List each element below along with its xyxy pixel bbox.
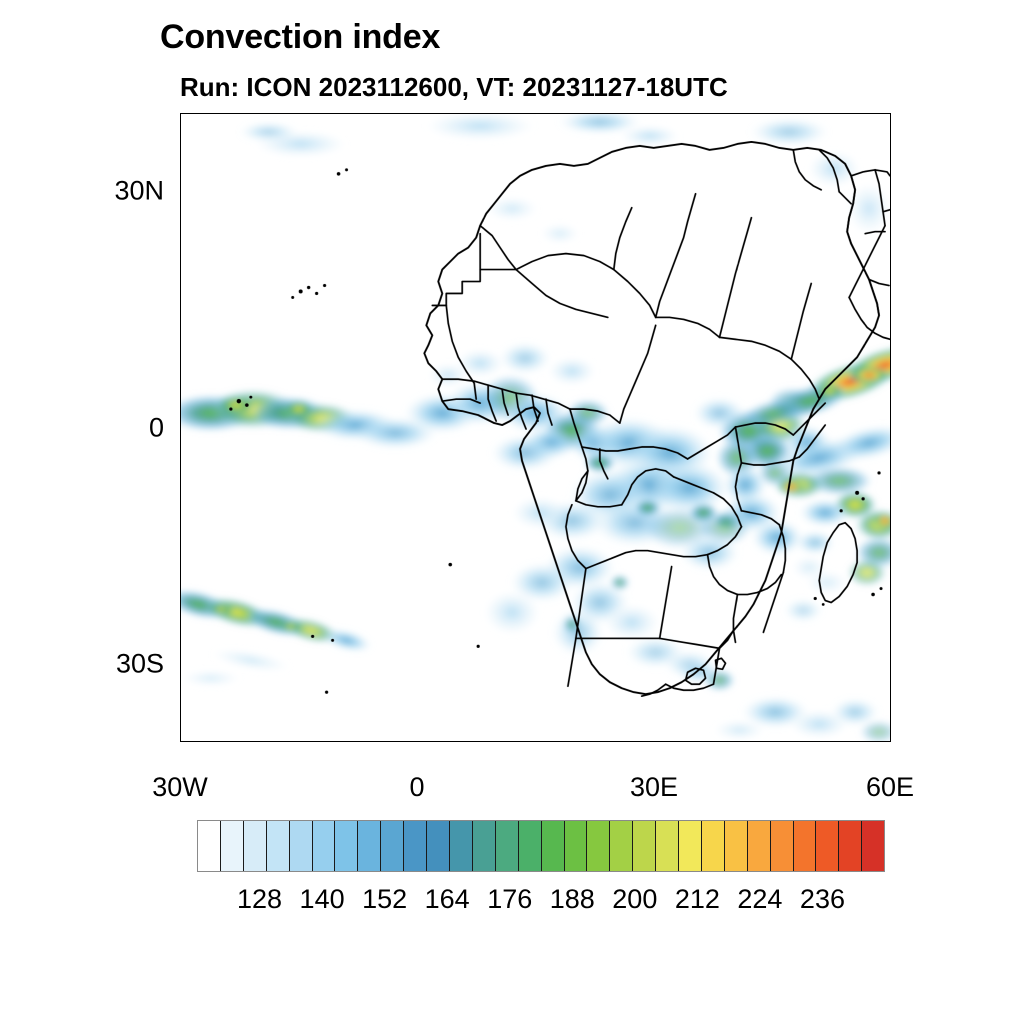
run-valid-time-subtitle: Run: ICON 2023112600, VT: 20231127-18UTC [180,72,728,103]
colorbar-tick-label: 140 [300,884,345,915]
colorbar-tick-label: 188 [550,884,595,915]
colorbar-cell [381,821,404,871]
ytick-15n [180,271,181,272]
colorbar-cell [816,821,839,871]
map-plot-area[interactable] [180,113,891,742]
colorbar-cell [290,821,313,871]
colorbar-cell [519,821,542,871]
colorbar-cell [702,821,725,871]
colorbar-cell [610,821,633,871]
africa-convection-map [181,114,890,741]
xtick-label-0: 0 [409,772,424,803]
colorbar-cell [542,821,565,871]
colorbar-cell [221,821,244,871]
colorbar-tick-label: 236 [800,884,845,915]
colorbar-cell [473,821,496,871]
colorbar-tick-label: 128 [237,884,282,915]
colorbar-cell [725,821,748,871]
colorbar-cell [198,821,221,871]
ytick-label-0: 0 [104,413,164,444]
colorbar-tick-label: 212 [675,884,720,915]
colorbar-cell [267,821,290,871]
colorbar-cell [358,821,381,871]
ytick-15n-b [180,350,181,351]
colorbar-cell [679,821,702,871]
ytick-15s [180,508,181,509]
ytick-0 [180,429,181,430]
colorbar-tick-label: 176 [487,884,532,915]
colorbar-tick-label: 152 [362,884,407,915]
ytick-label-30n: 30N [104,176,164,207]
ytick-30s [180,665,181,666]
colorbar-cell [450,821,473,871]
colorbar-cell [496,821,519,871]
colorbar-cell [633,821,656,871]
page-title: Convection index [160,18,440,57]
colorbar-cell [748,821,771,871]
ytick-label-30s: 30S [104,649,164,680]
colorbar-cell [656,821,679,871]
colorbar-cell [862,821,884,871]
colorbar[interactable] [197,820,885,872]
colorbar-cell [427,821,450,871]
colorbar-cell [771,821,794,871]
colorbar-cell [794,821,817,871]
colorbar-cell [313,821,336,871]
colorbar-cell [244,821,267,871]
ytick-15s-b [180,587,181,588]
xtick-label-30w: 30W [152,772,208,803]
colorbar-tick-label: 164 [425,884,470,915]
colorbar-tick-label: 200 [612,884,657,915]
colorbar-cell [839,821,862,871]
colorbar-cell [335,821,358,871]
ytick-30n [180,192,181,193]
colorbar-tick-label: 224 [737,884,782,915]
colorbar-cell [404,821,427,871]
xtick-label-30e: 30E [630,772,678,803]
colorbar-cell [565,821,588,871]
colorbar-cell [587,821,610,871]
xtick-label-60e: 60E [866,772,914,803]
